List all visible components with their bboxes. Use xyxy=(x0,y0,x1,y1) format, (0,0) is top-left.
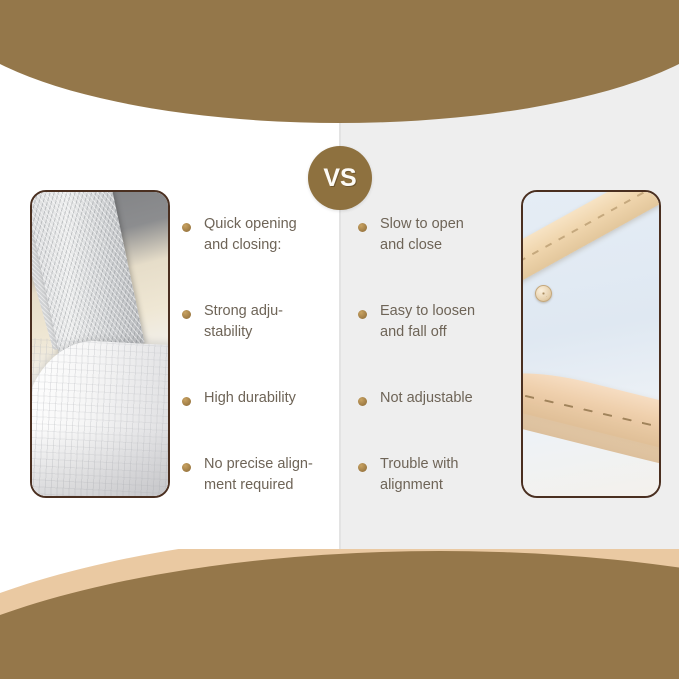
header-content: One second on and off Velcro design with… xyxy=(0,0,679,123)
vs-badge-label: VS xyxy=(323,164,356,193)
list-item: Not adjustable xyxy=(358,388,518,409)
left-photo-shadow xyxy=(32,426,168,496)
list-item: Slow to open and close xyxy=(358,214,518,256)
bullet-dot-icon xyxy=(182,397,191,406)
infographic-canvas: One second on and off Velcro design with… xyxy=(0,0,679,679)
right-photo-button xyxy=(535,285,552,302)
right-drawbacks-list: Slow to open and close Easy to loosen an… xyxy=(358,214,518,530)
list-item: No precise align- ment required xyxy=(182,454,342,496)
bullet-dot-icon xyxy=(358,463,367,472)
bullet-dot-icon xyxy=(182,310,191,319)
bullet-dot-icon xyxy=(358,310,367,319)
bullet-dot-icon xyxy=(358,223,367,232)
list-item-label: Not adjustable xyxy=(380,390,473,406)
list-item-label: No precise align- ment required xyxy=(204,456,313,493)
list-item-label: Trouble with alignment xyxy=(380,456,458,493)
bullet-dot-icon xyxy=(182,223,191,232)
list-item-label: High durability xyxy=(204,390,296,406)
footer-curves xyxy=(0,549,679,679)
list-item-label: Quick opening and closing: xyxy=(204,216,297,253)
bullet-dot-icon xyxy=(182,463,191,472)
left-product-photo xyxy=(30,190,170,498)
bullet-dot-icon xyxy=(358,397,367,406)
vs-badge: VS xyxy=(308,146,372,210)
list-item-label: Slow to open and close xyxy=(380,216,464,253)
right-product-photo xyxy=(521,190,661,498)
left-benefits-list: Quick opening and closing: Strong adju- … xyxy=(182,214,342,530)
list-item: High durability xyxy=(182,388,342,409)
header-banner: One second on and off Velcro design with… xyxy=(0,0,679,123)
list-item-label: Easy to loosen and fall off xyxy=(380,303,475,340)
list-item: Easy to loosen and fall off xyxy=(358,301,518,343)
list-item: Strong adju- stability xyxy=(182,301,342,343)
list-item: Trouble with alignment xyxy=(358,454,518,496)
list-item-label: Strong adju- stability xyxy=(204,303,283,340)
list-item: Quick opening and closing: xyxy=(182,214,342,256)
